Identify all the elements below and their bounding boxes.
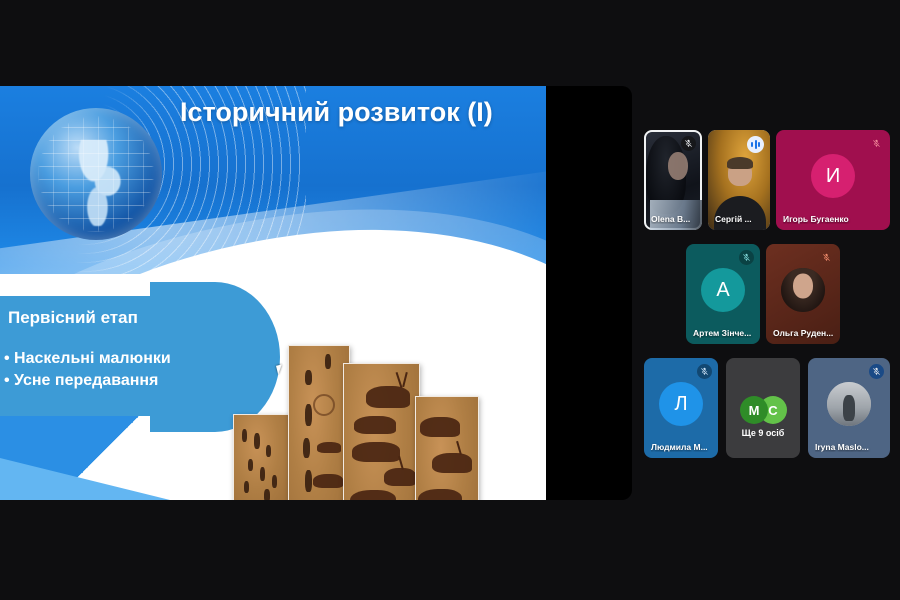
cave-art-panel bbox=[415, 396, 479, 500]
shared-screen-pane[interactable]: Історичний розвиток (I) Первісний етап •… bbox=[0, 86, 632, 500]
mic-off-icon bbox=[739, 250, 754, 265]
avatar: М bbox=[740, 396, 768, 424]
cave-art-images bbox=[225, 335, 485, 500]
presentation-slide: Історичний розвиток (I) Первісний етап •… bbox=[0, 86, 546, 500]
participant-name: Людмила М... bbox=[651, 442, 712, 452]
mic-off-icon bbox=[869, 136, 884, 151]
mic-off-icon bbox=[869, 364, 884, 379]
mic-off-icon bbox=[681, 136, 696, 151]
mic-off-icon bbox=[819, 250, 834, 265]
mic-off-icon bbox=[697, 364, 712, 379]
meeting-window: Історичний розвиток (I) Первісний етап •… bbox=[0, 0, 900, 600]
video-feed-face bbox=[668, 152, 688, 180]
participant-grid: Olena B... Сергій ... И Игорь Бугаенко А bbox=[640, 126, 894, 474]
participant-name: Игорь Бугаенко bbox=[783, 214, 884, 224]
slide-title: Історичний розвиток (I) bbox=[180, 98, 540, 128]
participant-name: Артем Зінче... bbox=[693, 328, 754, 338]
avatar: И bbox=[811, 154, 855, 198]
participant-name: Iryna Maslo... bbox=[815, 442, 884, 452]
more-participants-label: Ще 9 осіб bbox=[726, 428, 800, 438]
avatar: А bbox=[701, 268, 745, 312]
participant-name: Ольга Руден... bbox=[773, 328, 834, 338]
speaking-indicator-icon bbox=[747, 136, 764, 153]
participant-name: Olena B... bbox=[651, 214, 696, 224]
participant-tile-artem[interactable]: А Артем Зінче... bbox=[686, 244, 760, 344]
slide-bullet-list: • Наскельні малюнки • Усне передавання bbox=[4, 348, 219, 391]
participant-tile-lyudmila[interactable]: Л Людмила М... bbox=[644, 358, 718, 458]
cave-art-panel bbox=[233, 414, 292, 500]
participant-tile-iryna[interactable]: Iryna Maslo... bbox=[808, 358, 890, 458]
slide-bullet-item: • Наскельні малюнки bbox=[4, 348, 219, 370]
slide-section-heading: Первісний етап bbox=[8, 308, 208, 328]
participant-tile-olga[interactable]: Ольга Руден... bbox=[766, 244, 840, 344]
globe-landmass bbox=[68, 140, 132, 226]
participant-tile-sergiy[interactable]: Сергій ... bbox=[708, 130, 770, 230]
cave-art-panel bbox=[343, 363, 420, 500]
participant-tile-olena[interactable]: Olena B... bbox=[644, 130, 702, 230]
video-feed-hair bbox=[727, 157, 753, 169]
slide-bullet-item: • Усне передавання bbox=[4, 370, 219, 392]
avatar: Л bbox=[659, 382, 703, 426]
avatar bbox=[827, 382, 871, 426]
avatar bbox=[781, 268, 825, 312]
participant-name: Сергій ... bbox=[715, 214, 764, 224]
globe-icon bbox=[30, 108, 162, 240]
participant-tile-igor[interactable]: И Игорь Бугаенко bbox=[776, 130, 890, 230]
cave-art-panel bbox=[288, 345, 350, 500]
more-participants-tile[interactable]: С М Ще 9 осіб bbox=[726, 358, 800, 458]
